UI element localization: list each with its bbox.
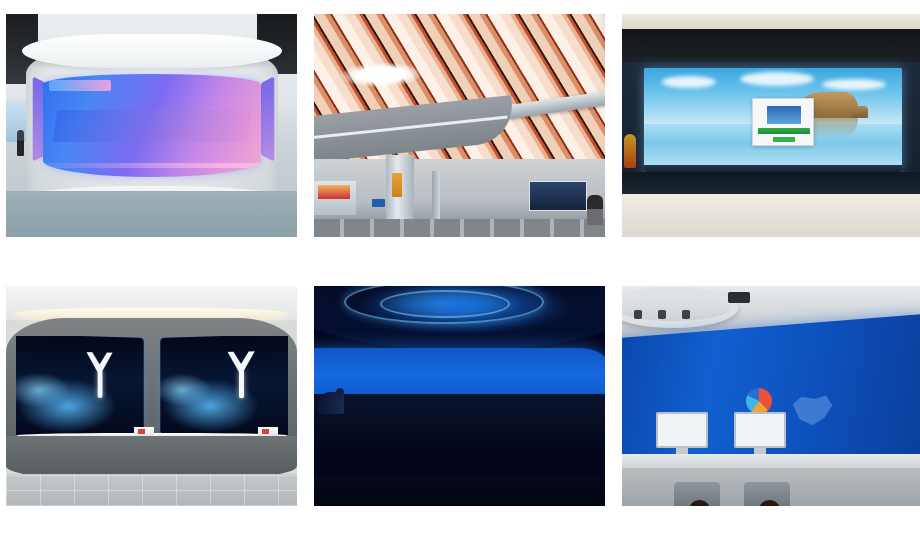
scene-train-station	[314, 14, 605, 237]
led-panel-right	[160, 336, 288, 436]
operator-monitor	[656, 412, 708, 448]
gallery-item-conference-room[interactable]	[612, 0, 920, 274]
scene-converged-media	[622, 286, 920, 506]
control-podium	[134, 427, 154, 436]
audience-seating	[622, 175, 920, 237]
wallpaper-logo-shape	[227, 351, 257, 398]
wallpaper-cloud	[662, 76, 716, 88]
hall-pillar-secondary	[432, 171, 440, 223]
scene-data-center	[6, 286, 297, 506]
blue-wayfinding-sign	[372, 199, 385, 207]
wallpaper-cloud	[740, 72, 814, 86]
dashboard-layout	[622, 326, 920, 474]
thumbnail-train-station[interactable]	[314, 14, 605, 237]
dialog-action-button	[773, 137, 795, 142]
pie-chart	[746, 388, 772, 414]
scene-command-dispatch	[314, 286, 605, 506]
led-video-wall	[644, 68, 902, 172]
ceiling-projector	[728, 292, 750, 303]
windows-taskbar	[644, 165, 902, 172]
gallery-item-converged-media[interactable]	[612, 274, 920, 556]
scene-exhibition-hall	[6, 14, 297, 237]
ceiling-light-truss	[622, 29, 920, 62]
wall-base	[6, 436, 297, 478]
region-map-graphic	[790, 394, 834, 428]
gallery-item-command-dispatch[interactable]	[306, 274, 612, 556]
upper-wall	[622, 14, 920, 30]
orange-banner-sign	[392, 173, 402, 197]
traveler-silhouette	[587, 195, 603, 225]
gallery-item-exhibition-hall[interactable]	[0, 0, 306, 274]
ceiling-spotlight	[658, 310, 666, 319]
foreground-floor	[314, 476, 605, 506]
installer-dialog	[752, 98, 814, 146]
thumbnail-conference-room[interactable]	[622, 14, 920, 237]
wallpaper-rock-small	[852, 106, 868, 118]
visitor-silhouette	[17, 130, 24, 156]
wallpaper-logo-shape	[86, 352, 115, 398]
info-kiosk	[314, 181, 356, 215]
waiting-area-seating	[314, 219, 605, 237]
stage-flower-arrangement	[624, 134, 636, 168]
dialog-progress-bar	[758, 128, 810, 134]
wallpaper-cloud	[822, 79, 886, 90]
gallery-item-data-center[interactable]	[0, 274, 306, 556]
led-side-panel-right	[261, 76, 274, 162]
curved-led-screen	[43, 74, 261, 177]
operator-monitor	[734, 412, 786, 448]
gallery-item-train-station[interactable]	[306, 0, 612, 274]
screen-banner-band	[52, 110, 251, 142]
led-application-gallery	[0, 0, 920, 556]
thumbnail-data-center[interactable]	[6, 286, 297, 506]
operator-silhouette	[318, 392, 344, 414]
housing-top-lip	[22, 34, 282, 68]
ceiling-spotlight	[634, 310, 642, 319]
thumbnail-converged-media[interactable]	[622, 286, 920, 506]
ceiling-ring-inner	[380, 290, 510, 318]
departure-board-monitor	[529, 181, 587, 211]
tiled-floor	[6, 474, 297, 506]
thumbnail-command-dispatch[interactable]	[314, 286, 605, 506]
led-panel-left	[16, 336, 144, 436]
thumbnail-exhibition-hall[interactable]	[6, 14, 297, 237]
hall-floor	[6, 191, 297, 237]
led-wall-assembly	[16, 336, 288, 436]
city-scale-model	[314, 394, 605, 450]
control-podium	[258, 427, 278, 436]
scene-conference-room	[622, 14, 920, 237]
dialog-preview-image	[767, 106, 801, 124]
ceiling-spotlight	[682, 310, 690, 319]
